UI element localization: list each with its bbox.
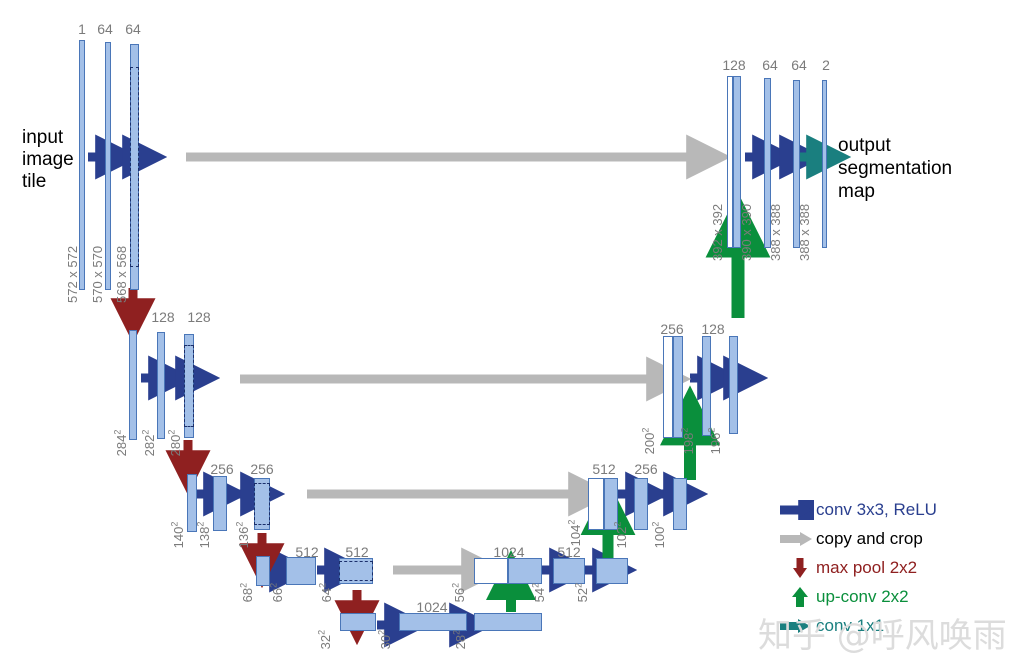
size-label-198: 1982 bbox=[679, 428, 695, 455]
down-arrow-darkred-icon bbox=[778, 556, 814, 580]
input-label-line3: tile bbox=[22, 170, 46, 193]
channel-label-64-out1: 64 bbox=[757, 58, 783, 72]
size-label-196: 1962 bbox=[706, 428, 722, 455]
legend-item-maxpool: max pool 2x2 bbox=[778, 553, 1018, 582]
size-label-100: 1002 bbox=[650, 522, 666, 549]
size-label-280: 2802 bbox=[166, 430, 182, 457]
legend-item-copy-crop: copy and crop bbox=[778, 524, 1018, 553]
feature-bar-570 bbox=[105, 42, 111, 290]
feature-bar-54 bbox=[553, 558, 585, 584]
size-label-66: 662 bbox=[268, 583, 284, 602]
feature-bar-100 bbox=[673, 478, 687, 530]
size-label-140: 1402 bbox=[169, 522, 185, 549]
channel-label-128a: 128 bbox=[146, 310, 180, 324]
legend-item-upconv: up-conv 2x2 bbox=[778, 582, 1018, 611]
feature-bar-66 bbox=[286, 557, 316, 585]
legend-label-copy-crop: copy and crop bbox=[814, 529, 923, 548]
legend-label-maxpool: max pool 2x2 bbox=[814, 558, 917, 577]
crop-box-l2 bbox=[184, 345, 194, 427]
legend-item-conv3x3: conv 3x3, ReLU bbox=[778, 495, 1018, 524]
channel-label-64-out2: 64 bbox=[786, 58, 812, 72]
crop-box-l4 bbox=[339, 561, 373, 581]
feature-bar-104-copied bbox=[588, 478, 604, 530]
size-label-138: 1382 bbox=[195, 522, 211, 549]
channel-label-128b: 128 bbox=[182, 310, 216, 324]
size-label-392: 392 x 392 bbox=[711, 204, 724, 261]
size-label-28: 282 bbox=[451, 630, 467, 649]
feature-bar-102 bbox=[634, 478, 648, 530]
right-arrow-teal-icon bbox=[778, 614, 814, 638]
output-label-line1: output bbox=[838, 134, 891, 157]
channel-label-64b: 64 bbox=[120, 22, 146, 36]
legend-label-conv1x1: conv 1x1 bbox=[814, 616, 884, 635]
legend-label-conv3x3: conv 3x3, ReLU bbox=[814, 500, 937, 519]
size-label-200: 2002 bbox=[640, 428, 656, 455]
legend-item-conv1x1: conv 1x1 bbox=[778, 611, 1018, 640]
size-label-572: 572 x 572 bbox=[66, 246, 79, 303]
channel-label-512-up3: 512 bbox=[587, 462, 621, 476]
feature-bar-200-upconv bbox=[673, 336, 683, 438]
size-label-390: 390 x 390 bbox=[740, 204, 753, 261]
output-label-line3: map bbox=[838, 180, 875, 203]
size-label-568: 568 x 568 bbox=[115, 246, 128, 303]
channel-label-256a: 256 bbox=[205, 462, 239, 476]
channel-label-256b: 256 bbox=[245, 462, 279, 476]
unet-diagram: 1 64 64 572 x 572 570 x 570 568 x 568 in… bbox=[0, 0, 1020, 670]
feature-bar-56-copied bbox=[474, 558, 508, 584]
input-label-line2: image bbox=[22, 148, 74, 171]
right-arrow-gray-icon bbox=[778, 527, 814, 551]
feature-bar-388b bbox=[822, 80, 827, 248]
channel-label-1024-up: 1024 bbox=[487, 545, 531, 559]
size-label-388b: 388 x 388 bbox=[798, 204, 811, 261]
size-label-68: 682 bbox=[238, 583, 254, 602]
size-label-56: 562 bbox=[450, 583, 466, 602]
channel-label-1024-bottom: 1024 bbox=[410, 600, 454, 614]
feature-bar-68 bbox=[256, 556, 270, 586]
feature-bar-196 bbox=[729, 336, 738, 434]
feature-bar-284 bbox=[129, 330, 137, 440]
channel-label-64a: 64 bbox=[92, 22, 118, 36]
channel-label-256-up3: 256 bbox=[629, 462, 663, 476]
size-label-570: 570 x 570 bbox=[91, 246, 104, 303]
feature-bar-30 bbox=[399, 613, 467, 631]
feature-bar-282 bbox=[157, 332, 165, 439]
size-label-30: 302 bbox=[376, 630, 392, 649]
feature-bar-32 bbox=[340, 613, 376, 631]
up-arrow-green-icon bbox=[778, 585, 814, 609]
size-label-52: 522 bbox=[573, 583, 589, 602]
channel-label-128-out: 128 bbox=[717, 58, 751, 72]
size-label-104: 1042 bbox=[566, 520, 582, 547]
feature-bar-28 bbox=[474, 613, 542, 631]
crop-box-l1 bbox=[130, 67, 139, 267]
input-label-line1: input bbox=[22, 126, 63, 149]
legend: conv 3x3, ReLU copy and crop max pool 2x… bbox=[778, 495, 1018, 640]
size-label-388a: 388 x 388 bbox=[769, 204, 782, 261]
feature-bar-138 bbox=[213, 476, 227, 531]
channel-label-2-out: 2 bbox=[816, 58, 836, 72]
channel-label-128-up2: 128 bbox=[696, 322, 730, 336]
size-label-136: 1362 bbox=[234, 522, 250, 549]
feature-bar-198 bbox=[702, 336, 711, 436]
right-arrow-navy-icon bbox=[778, 498, 814, 522]
channel-label-512-up: 512 bbox=[552, 545, 586, 559]
size-label-282: 2822 bbox=[140, 430, 156, 457]
legend-label-upconv: up-conv 2x2 bbox=[814, 587, 909, 606]
feature-bar-56-upconv bbox=[508, 558, 542, 584]
size-label-102: 1022 bbox=[612, 522, 628, 549]
size-label-284: 2842 bbox=[112, 430, 128, 457]
crop-box-l3 bbox=[254, 483, 270, 525]
size-label-54: 542 bbox=[530, 583, 546, 602]
channel-label-256-up2: 256 bbox=[655, 322, 689, 336]
feature-bar-200-copied bbox=[663, 336, 673, 438]
size-label-32: 322 bbox=[316, 630, 332, 649]
output-label-line2: segmentation bbox=[838, 157, 952, 180]
feature-bar-52 bbox=[596, 558, 628, 584]
size-label-64: 642 bbox=[317, 583, 333, 602]
channel-label-1: 1 bbox=[72, 22, 92, 36]
channel-label-512b: 512 bbox=[340, 545, 374, 559]
